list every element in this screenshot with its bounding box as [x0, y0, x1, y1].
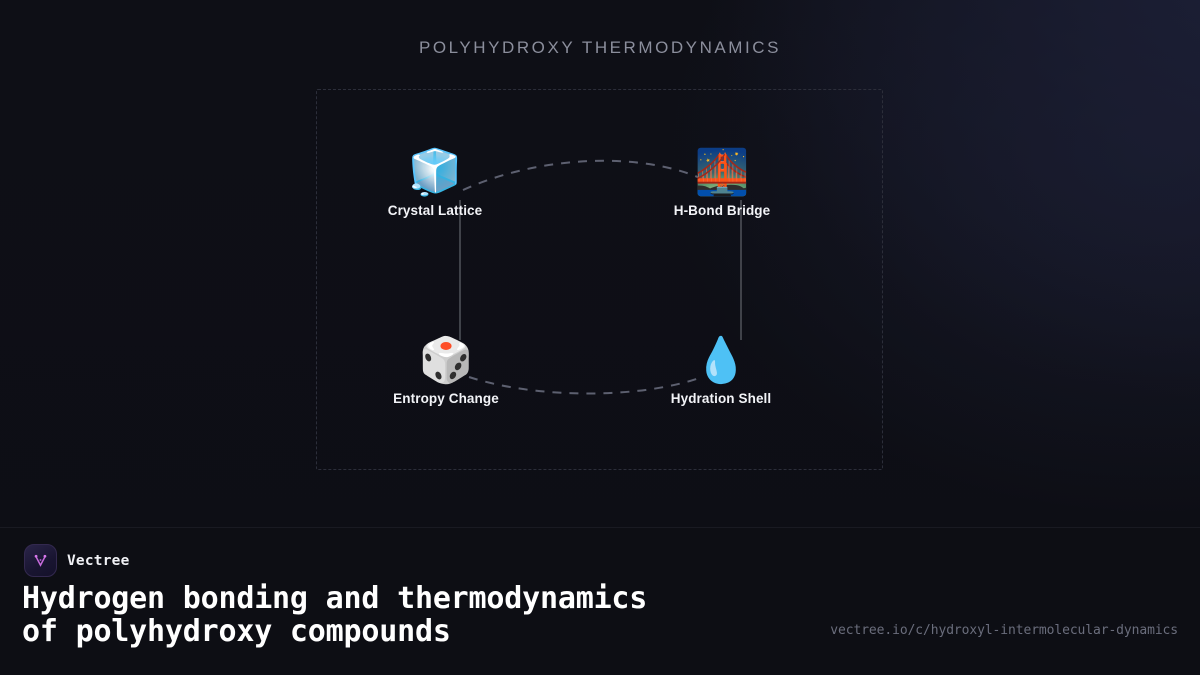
- node-entropy-change[interactable]: 🎲 Entropy Change: [393, 333, 499, 406]
- node-h-bond-bridge[interactable]: 🌉 H-Bond Bridge: [674, 145, 771, 218]
- footer: Vectree Hydrogen bonding and thermodynam…: [0, 528, 1200, 675]
- vectree-branch-logo-icon: [24, 544, 57, 577]
- brand[interactable]: Vectree: [24, 544, 130, 577]
- headline: Hydrogen bonding and thermodynamics of p…: [22, 582, 822, 648]
- game-die-icon: 🎲: [393, 333, 499, 389]
- footer-url: vectree.io/c/hydroxyl-intermolecular-dyn…: [830, 623, 1178, 638]
- edge-crystal-lattice-to-h-bond-bridge: [463, 161, 700, 190]
- node-label-crystal-lattice: Crystal Lattice: [388, 203, 483, 218]
- node-hydration-shell[interactable]: 💧 Hydration Shell: [671, 333, 772, 406]
- ice-cube-icon: 🧊: [388, 145, 483, 201]
- node-crystal-lattice[interactable]: 🧊 Crystal Lattice: [388, 145, 483, 218]
- droplet-icon: 💧: [671, 333, 772, 389]
- diagram-stage: POLYHYDROXY THERMODYNAMICS 🧊 Crystal Lat…: [0, 0, 1200, 527]
- brand-name: Vectree: [67, 553, 130, 569]
- node-label-entropy-change: Entropy Change: [393, 391, 499, 406]
- edge-layer: [0, 0, 1200, 527]
- edge-entropy-change-to-hydration-shell: [469, 377, 702, 394]
- node-label-h-bond-bridge: H-Bond Bridge: [674, 203, 771, 218]
- node-label-hydration-shell: Hydration Shell: [671, 391, 772, 406]
- bridge-at-night-icon: 🌉: [674, 145, 771, 201]
